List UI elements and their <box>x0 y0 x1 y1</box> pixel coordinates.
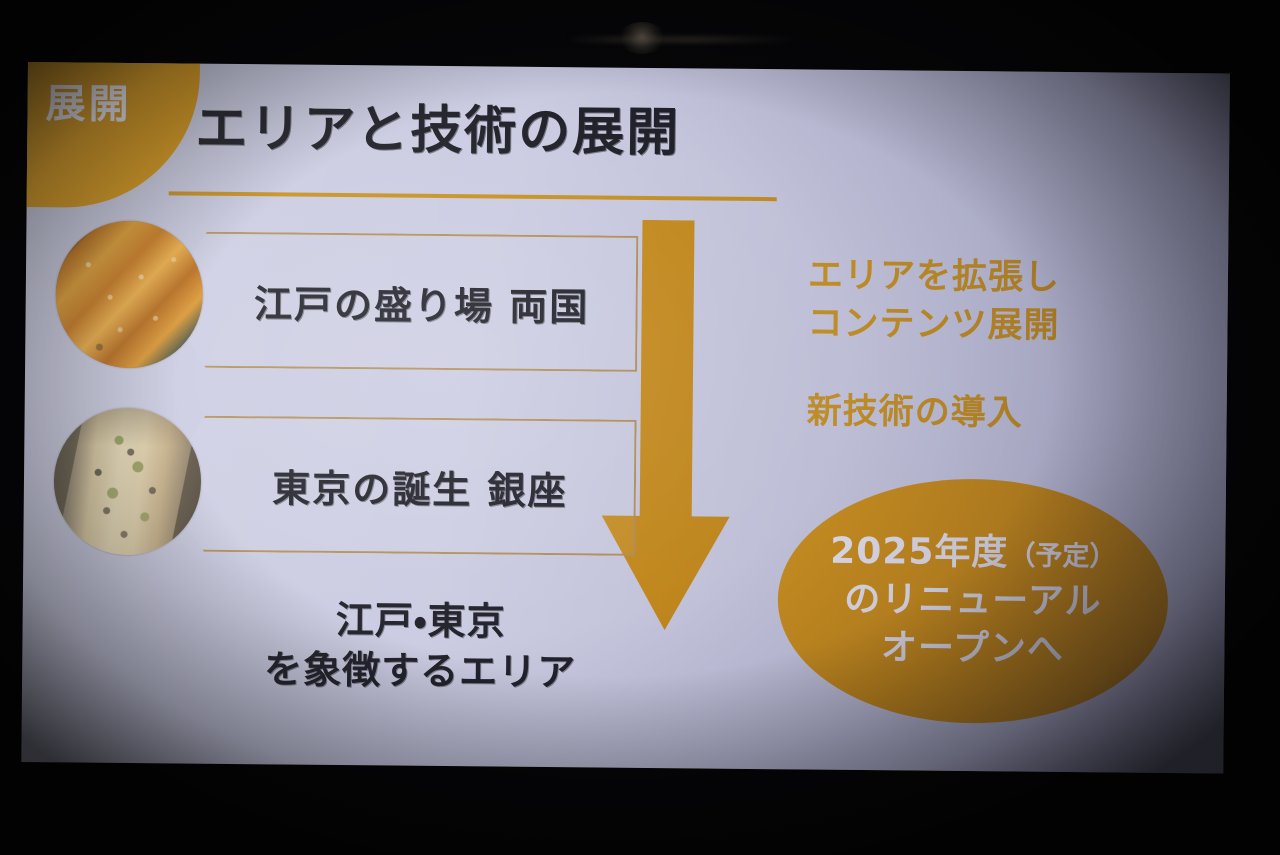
callout-label-ginza: 東京の誕生 銀座 <box>230 456 568 514</box>
reopening-highlight-text: 2025年度（予定） のリニューアル オープンへ <box>829 527 1117 674</box>
reopening-planned-note: （予定） <box>1008 540 1116 572</box>
projector-screen-photo: 展開 エリアと技術の展開 江戸の盛り場 両国 東京の誕生 銀座 江戸・東京 を象… <box>0 0 1280 855</box>
bezel-glare-streak <box>566 36 796 43</box>
note-new-technology: 新技術の導入 <box>806 387 1136 438</box>
thumbnail-ryogoku <box>55 220 203 368</box>
callout-ginza: 東京の誕生 銀座 <box>161 415 636 556</box>
callout-label-ryogoku: 江戸の盛り場 両国 <box>212 272 590 331</box>
thumbnail-ginza <box>53 407 201 555</box>
presentation-slide: 展開 エリアと技術の展開 江戸の盛り場 両国 東京の誕生 銀座 江戸・東京 を象… <box>21 62 1230 774</box>
reopening-line-2: のリニューアル <box>830 576 1117 627</box>
callout-ryogoku: 江戸の盛り場 両国 <box>163 231 638 372</box>
historic-street-photo-image <box>53 407 201 555</box>
note-area-expansion: エリアを拡張し コンテンツ展開 <box>807 251 1138 351</box>
reopening-line-3: オープンへ <box>829 624 1116 675</box>
reopening-year: 2025年度 <box>830 530 1009 573</box>
summary-line-1: 江戸・東京 <box>335 598 505 644</box>
projection-screen: 展開 エリアと技術の展開 江戸の盛り場 両国 東京の誕生 銀座 江戸・東京 を象… <box>21 62 1230 774</box>
section-badge-label: 展開 <box>45 84 185 125</box>
bezel-glare-spot <box>618 22 666 54</box>
summary-line-2: を象徴するエリア <box>264 647 576 694</box>
left-column-summary: 江戸・東京 を象徴するエリア <box>210 594 631 698</box>
woodblock-print-image <box>55 220 203 368</box>
slide-title: エリアと技術の展開 <box>195 102 680 161</box>
reopening-highlight-ellipse: 2025年度（予定） のリニューアル オープンへ <box>777 477 1169 725</box>
title-underline-rule <box>169 191 777 201</box>
